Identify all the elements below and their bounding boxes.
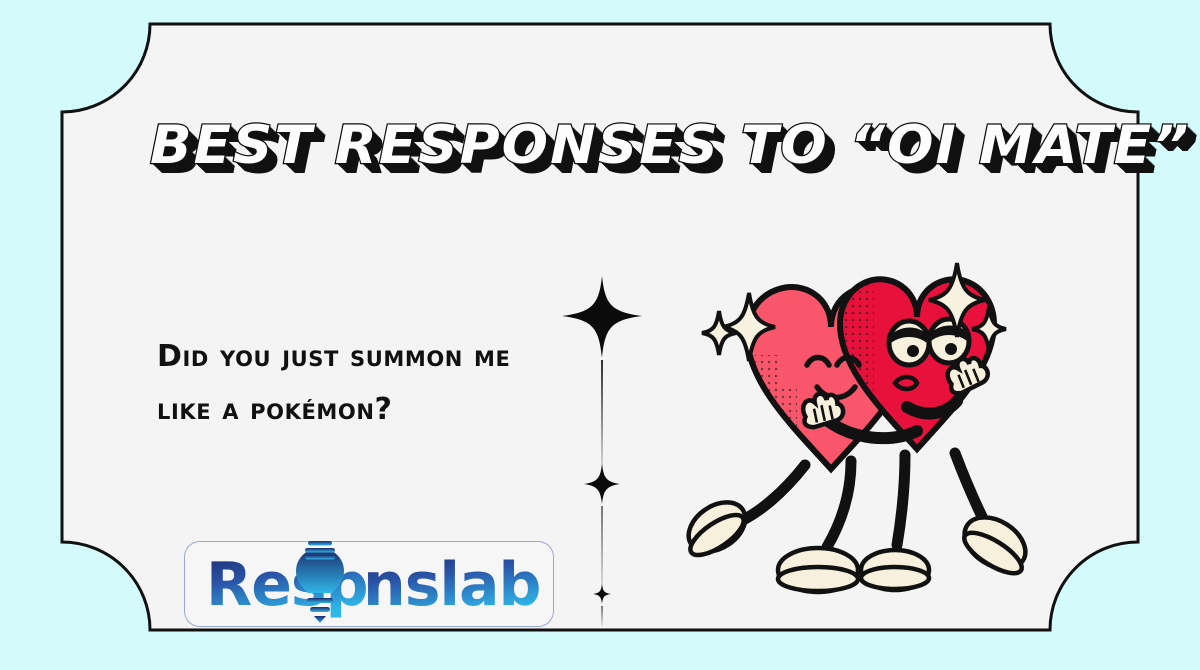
sparkle-divider — [556, 268, 666, 628]
sparkle-icon — [702, 311, 736, 355]
divider-line-3 — [601, 606, 603, 626]
logo-graphic: Resp nslab — [184, 541, 554, 627]
logo-wordmark-left: Resp — [206, 550, 368, 620]
poster-canvas: BEST RESPONSES TO “OI MATE” Did you just… — [0, 0, 1200, 670]
page-title: BEST RESPONSES TO “OI MATE” — [150, 119, 1098, 172]
quote-text: Did you just summon me like a Pokémon? — [157, 330, 547, 437]
hearts-illustration — [655, 255, 1035, 635]
brand-logo[interactable]: Resp nslab — [184, 541, 554, 627]
divider-line-1 — [601, 360, 603, 472]
sparkle-large-icon — [562, 276, 642, 358]
sparkle-medium-icon — [584, 464, 620, 504]
sparkle-small-icon — [593, 584, 611, 604]
logo-wordmark-right: nslab — [363, 550, 540, 620]
heart-legs — [737, 453, 989, 547]
